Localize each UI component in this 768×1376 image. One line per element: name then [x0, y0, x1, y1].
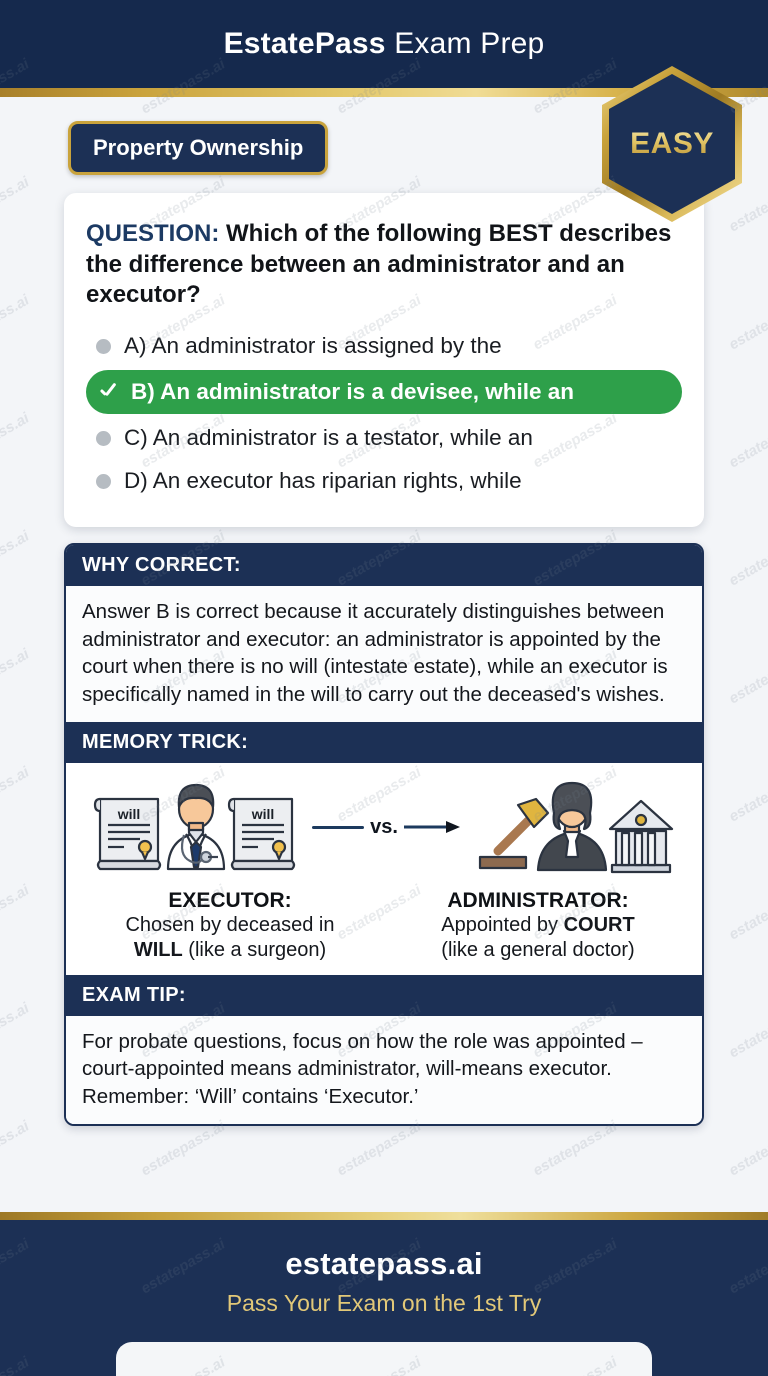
watermark-text: estatepass.ai [334, 1118, 424, 1180]
watermark-text: estatepass.ai [726, 1000, 768, 1062]
answer-option-label: B) An administrator is a devisee, while … [131, 379, 574, 405]
watermark-text: estatepass.ai [0, 1118, 32, 1180]
why-correct-body: Answer B is correct because it accuratel… [66, 586, 702, 722]
answer-option-b[interactable]: B) An administrator is a devisee, while … [86, 370, 682, 414]
executor-will-bold: WILL [134, 939, 183, 961]
explanation-stack: WHY CORRECT: Answer B is correct because… [64, 543, 704, 1126]
administrator-caption: ADMINISTRATOR: Appointed by COURT (like … [384, 889, 692, 963]
memory-trick-captions: EXECUTOR: Chosen by deceased in WILL (li… [76, 889, 692, 963]
memory-trick-body: will will vs. [66, 763, 702, 975]
answer-option-d[interactable]: D) An executor has riparian rights, whil… [86, 462, 682, 500]
question-lead: QUESTION: [86, 220, 219, 247]
watermark-text: estatepass.ai [726, 528, 768, 590]
answer-option-a[interactable]: A) An administrator is assigned by the [86, 327, 682, 365]
bullet-icon [96, 431, 111, 446]
administrator-court-bold: COURT [564, 914, 635, 936]
footer-tagline: Pass Your Exam on the 1st Try [0, 1290, 768, 1317]
watermark-text: estatepass.ai [0, 764, 32, 826]
difficulty-badge: EASY [602, 66, 742, 222]
will-scroll-label-2: will [251, 806, 275, 822]
watermark-text: estatepass.ai [138, 1118, 228, 1180]
brand-suffix: Exam Prep [386, 27, 545, 60]
footer-bottom-card [116, 1342, 652, 1376]
watermark-text: estatepass.ai [726, 292, 768, 354]
answer-option-label: A) An administrator is assigned by the [124, 333, 502, 359]
watermark-text: estatepass.ai [726, 646, 768, 708]
check-icon [98, 382, 118, 402]
answer-option-label: C) An administrator is a testator, while… [124, 425, 533, 451]
watermark-text: estatepass.ai [0, 882, 32, 944]
watermark-text: estatepass.ai [726, 1118, 768, 1180]
watermark-text: estatepass.ai [530, 1118, 620, 1180]
administrator-line2: (like a general doctor) [441, 939, 634, 961]
memory-trick-heading: MEMORY TRICK: [66, 722, 702, 763]
executor-line2: (like a surgeon) [183, 939, 326, 961]
executor-illustration-icon: will will [90, 777, 302, 877]
memory-trick-illustration: will will vs. [76, 777, 692, 877]
why-correct-heading: WHY CORRECT: [66, 545, 702, 586]
question-card: QUESTION: Which of the following BEST de… [64, 193, 704, 527]
will-scroll-label: will [117, 806, 141, 822]
vs-line-left [312, 826, 364, 829]
brand-name: EstatePass [224, 27, 386, 60]
exam-tip-heading: EXAM TIP: [66, 975, 702, 1016]
executor-caption: EXECUTOR: Chosen by deceased in WILL (li… [76, 889, 384, 963]
question-text: QUESTION: Which of the following BEST de… [86, 219, 682, 311]
difficulty-badge-label: EASY [630, 127, 714, 161]
administrator-illustration-icon [472, 777, 678, 877]
topic-pill[interactable]: Property Ownership [68, 121, 328, 175]
answer-option-c[interactable]: C) An administrator is a testator, while… [86, 419, 682, 457]
exam-tip-body: For probate questions, focus on how the … [66, 1016, 702, 1124]
executor-subtitle: Chosen by deceased in WILL (like a surge… [76, 913, 384, 963]
watermark-text: estatepass.ai [726, 882, 768, 944]
administrator-line1: Appointed by [441, 914, 563, 936]
arrow-right-icon [404, 820, 462, 834]
administrator-subtitle: Appointed by COURT (like a general docto… [384, 913, 692, 963]
page-title: EstatePass Exam Prep [224, 27, 545, 61]
administrator-title: ADMINISTRATOR: [384, 889, 692, 913]
watermark-text: estatepass.ai [726, 410, 768, 472]
footer-site[interactable]: estatepass.ai [0, 1246, 768, 1282]
watermark-text: estatepass.ai [0, 528, 32, 590]
watermark-text: estatepass.ai [0, 1000, 32, 1062]
executor-title: EXECUTOR: [76, 889, 384, 913]
watermark-text: estatepass.ai [0, 646, 32, 708]
footer-gold-divider [0, 1212, 768, 1220]
executor-line1: Chosen by deceased in [125, 914, 334, 936]
answer-options-list: A) An administrator is assigned by the B… [86, 327, 682, 500]
watermark-text: estatepass.ai [0, 410, 32, 472]
vs-connector: vs. [306, 816, 468, 839]
answer-option-label: D) An executor has riparian rights, whil… [124, 468, 522, 494]
footer: estatepass.ai Pass Your Exam on the 1st … [0, 1212, 768, 1376]
vs-label: vs. [370, 816, 398, 839]
watermark-text: estatepass.ai [0, 292, 32, 354]
footer-bar: estatepass.ai Pass Your Exam on the 1st … [0, 1220, 768, 1376]
bullet-icon [96, 339, 111, 354]
watermark-text: estatepass.ai [726, 764, 768, 826]
bullet-icon [96, 474, 111, 489]
